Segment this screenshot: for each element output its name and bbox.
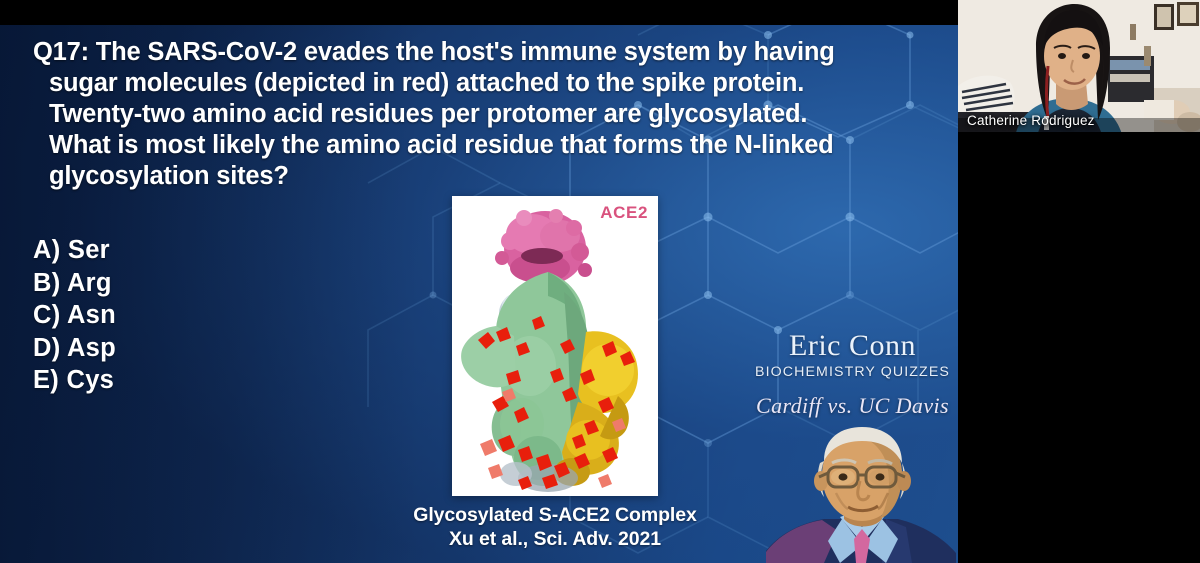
answer-option-b[interactable]: B) Arg [33,267,116,300]
answer-option-e[interactable]: E) Cys [33,364,116,397]
caption-line-2: Xu et al., Sci. Adv. 2021 [380,527,730,551]
question-text: Q17: The SARS-CoV-2 evades the host's im… [33,37,933,192]
spike-ace2-illustration [452,196,658,496]
brand-name: Eric Conn [745,330,958,362]
presentation-slide[interactable]: Q17: The SARS-CoV-2 evades the host's im… [0,25,958,563]
video-call-screen: Q17: The SARS-CoV-2 evades the host's im… [0,0,1200,563]
answer-option-a[interactable]: A) Ser [33,234,116,267]
caption-line-1: Glycosylated S-ACE2 Complex [380,503,730,527]
question-line-1: Q17: The SARS-CoV-2 evades the host's im… [33,37,933,68]
ace2-label: ACE2 [600,203,648,223]
letterbox-top-bar [0,0,958,25]
participant-name-label: Catherine Rodriguez [967,113,1095,128]
answer-option-c[interactable]: C) Asn [33,299,116,332]
brand-logo: Eric Conn BIOCHEMISTRY QUIZZES Cardiff v… [745,330,958,419]
webcam-bottom-bar [958,132,1200,144]
answer-option-d[interactable]: D) Asp [33,332,116,365]
question-line-5: glycosylation sites? [33,161,933,192]
question-line-2: sugar molecules (depicted in red) attach… [33,68,933,99]
eric-conn-portrait [766,423,956,563]
question-line-4: What is most likely the amino acid resid… [33,130,933,161]
question-line-3: Twenty-two amino acid residues per proto… [33,99,933,130]
empty-video-area [958,144,1200,563]
figure-caption: Glycosylated S-ACE2 Complex Xu et al., S… [380,503,730,551]
answer-options-list: A) Ser B) Arg C) Asn D) Asp E) Cys [33,234,116,397]
brand-subtitle: BIOCHEMISTRY QUIZZES [745,363,958,382]
participant-video-tile[interactable]: Catherine Rodriguez [958,0,1200,144]
brand-script-line: Cardiff vs. UC Davis [745,393,958,419]
protein-structure-figure: ACE2 [452,196,658,496]
